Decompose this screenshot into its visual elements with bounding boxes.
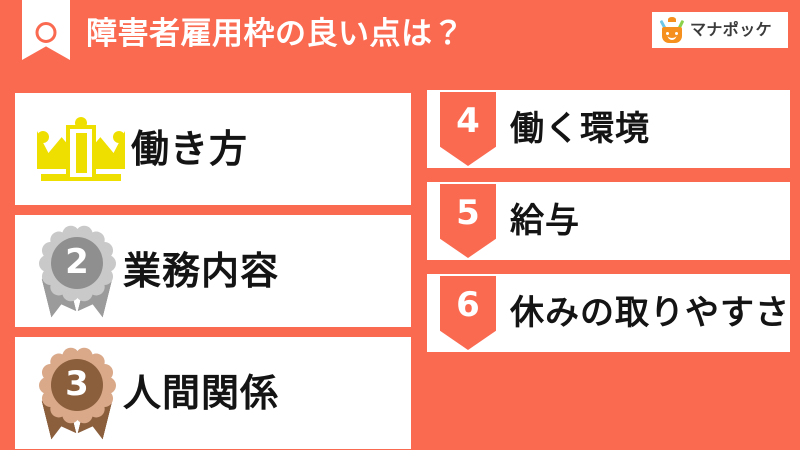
leaf-icon	[668, 17, 676, 22]
rank-card-label: 業務内容	[123, 252, 279, 290]
rank-card-label: 働き方	[131, 130, 248, 168]
rank-card-3[interactable]: 3 人間関係	[15, 337, 411, 449]
crown-icon	[37, 117, 125, 181]
rank-card-5[interactable]: 5 給与	[427, 182, 790, 260]
rank-number-1	[66, 125, 96, 181]
pentagon-badge-icon: 5	[440, 184, 496, 258]
rank-number-4: 4	[456, 104, 480, 138]
medal-inner-disc: 2	[51, 237, 103, 289]
smile-icon	[668, 33, 677, 40]
header-bar: 障害者雇用枠の良い点は？ マナポッケ	[0, 0, 800, 86]
infographic-canvas: 障害者雇用枠の良い点は？ マナポッケ	[0, 0, 800, 450]
numeral-one-stroke	[76, 133, 87, 173]
pentagon-badge-icon: 4	[440, 92, 496, 166]
circle-icon	[36, 22, 57, 43]
rank-card-label: 働く環境	[510, 112, 650, 146]
rank-card-1[interactable]: 働き方	[15, 93, 411, 205]
brand-logo[interactable]: マナポッケ	[652, 12, 788, 48]
smiley-cup-icon	[659, 18, 685, 43]
page-title: 障害者雇用枠の良い点は？	[86, 12, 464, 56]
medal-inner-disc: 3	[51, 359, 103, 411]
rank-number-6: 6	[456, 288, 480, 322]
rank-card-label: 人間関係	[123, 374, 279, 412]
brand-logo-text: マナポッケ	[690, 22, 772, 38]
bronze-medal-icon: 3	[37, 349, 117, 437]
rank-card-4[interactable]: 4 働く環境	[427, 90, 790, 168]
rank-card-label: 休みの取りやすさ	[510, 296, 790, 330]
bookmark-ribbon-icon	[22, 0, 70, 60]
rank-number-5: 5	[456, 196, 480, 230]
rank-number-2: 2	[65, 245, 89, 279]
rank-number-3: 3	[65, 367, 89, 401]
rank-card-label: 給与	[510, 204, 580, 238]
silver-medal-icon: 2	[37, 227, 117, 315]
cup-face-icon	[662, 27, 682, 43]
pentagon-badge-icon: 6	[440, 276, 496, 350]
rank-card-2[interactable]: 2 業務内容	[15, 215, 411, 327]
rank-card-6[interactable]: 6 休みの取りやすさ	[427, 274, 790, 352]
